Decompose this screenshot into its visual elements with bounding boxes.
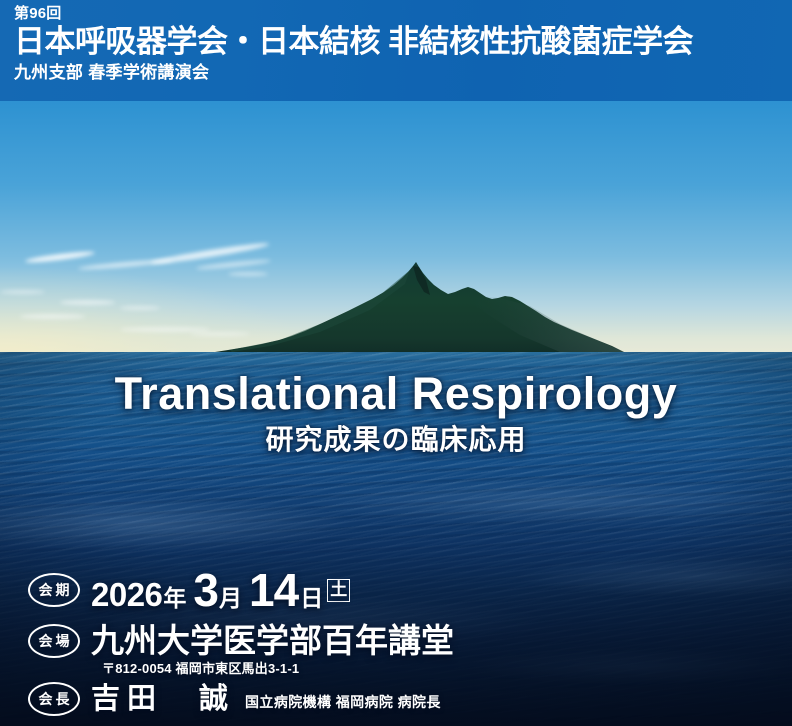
- chair-affiliation: 国立病院機構 福岡病院 病院長: [245, 692, 441, 716]
- hero-english-title: Translational Respirology: [0, 368, 792, 420]
- date-month-unit: 月: [219, 579, 242, 613]
- date-month: 3: [193, 563, 218, 617]
- date-year-unit: 年: [163, 579, 186, 613]
- chair-name: 吉田 誠: [91, 682, 235, 716]
- date-badge: 会期: [28, 573, 80, 607]
- chair-badge: 会長: [28, 682, 80, 716]
- date-weekday: 土: [327, 579, 350, 602]
- venue-address: 〒812-0054 福岡市東区馬出3-1-1: [102, 660, 768, 678]
- venue-badge: 会場: [28, 624, 80, 658]
- hero-title-block: Translational Respirology 研究成果の臨床応用: [0, 368, 792, 458]
- date-row: 会期 2026 年 3 月 14 日 土: [28, 563, 768, 617]
- hero-japanese-title: 研究成果の臨床応用: [0, 422, 792, 458]
- edition-label: 第96回: [14, 4, 792, 23]
- date-day: 14: [249, 563, 298, 617]
- event-info-block: 会期 2026 年 3 月 14 日 土 会場 九州大学医学部百年講堂 〒812…: [28, 563, 768, 718]
- venue-name: 九州大学医学部百年講堂: [91, 622, 454, 660]
- meeting-subtitle: 九州支部 春季学術講演会: [14, 61, 792, 84]
- society-title: 日本呼吸器学会・日本結核 非結核性抗酸菌症学会: [14, 23, 792, 60]
- conference-poster: 第96回 日本呼吸器学会・日本結核 非結核性抗酸菌症学会 九州支部 春季学術講演…: [0, 0, 792, 726]
- island-silhouette: [0, 240, 792, 360]
- date-year: 2026: [91, 576, 162, 614]
- date-day-unit: 日: [300, 579, 323, 613]
- date-value: 2026 年 3 月 14 日 土: [91, 563, 350, 617]
- header-band: 第96回 日本呼吸器学会・日本結核 非結核性抗酸菌症学会 九州支部 春季学術講演…: [0, 0, 792, 101]
- chair-row: 会長 吉田 誠 国立病院機構 福岡病院 病院長: [28, 682, 768, 716]
- venue-row: 会場 九州大学医学部百年講堂: [28, 622, 768, 660]
